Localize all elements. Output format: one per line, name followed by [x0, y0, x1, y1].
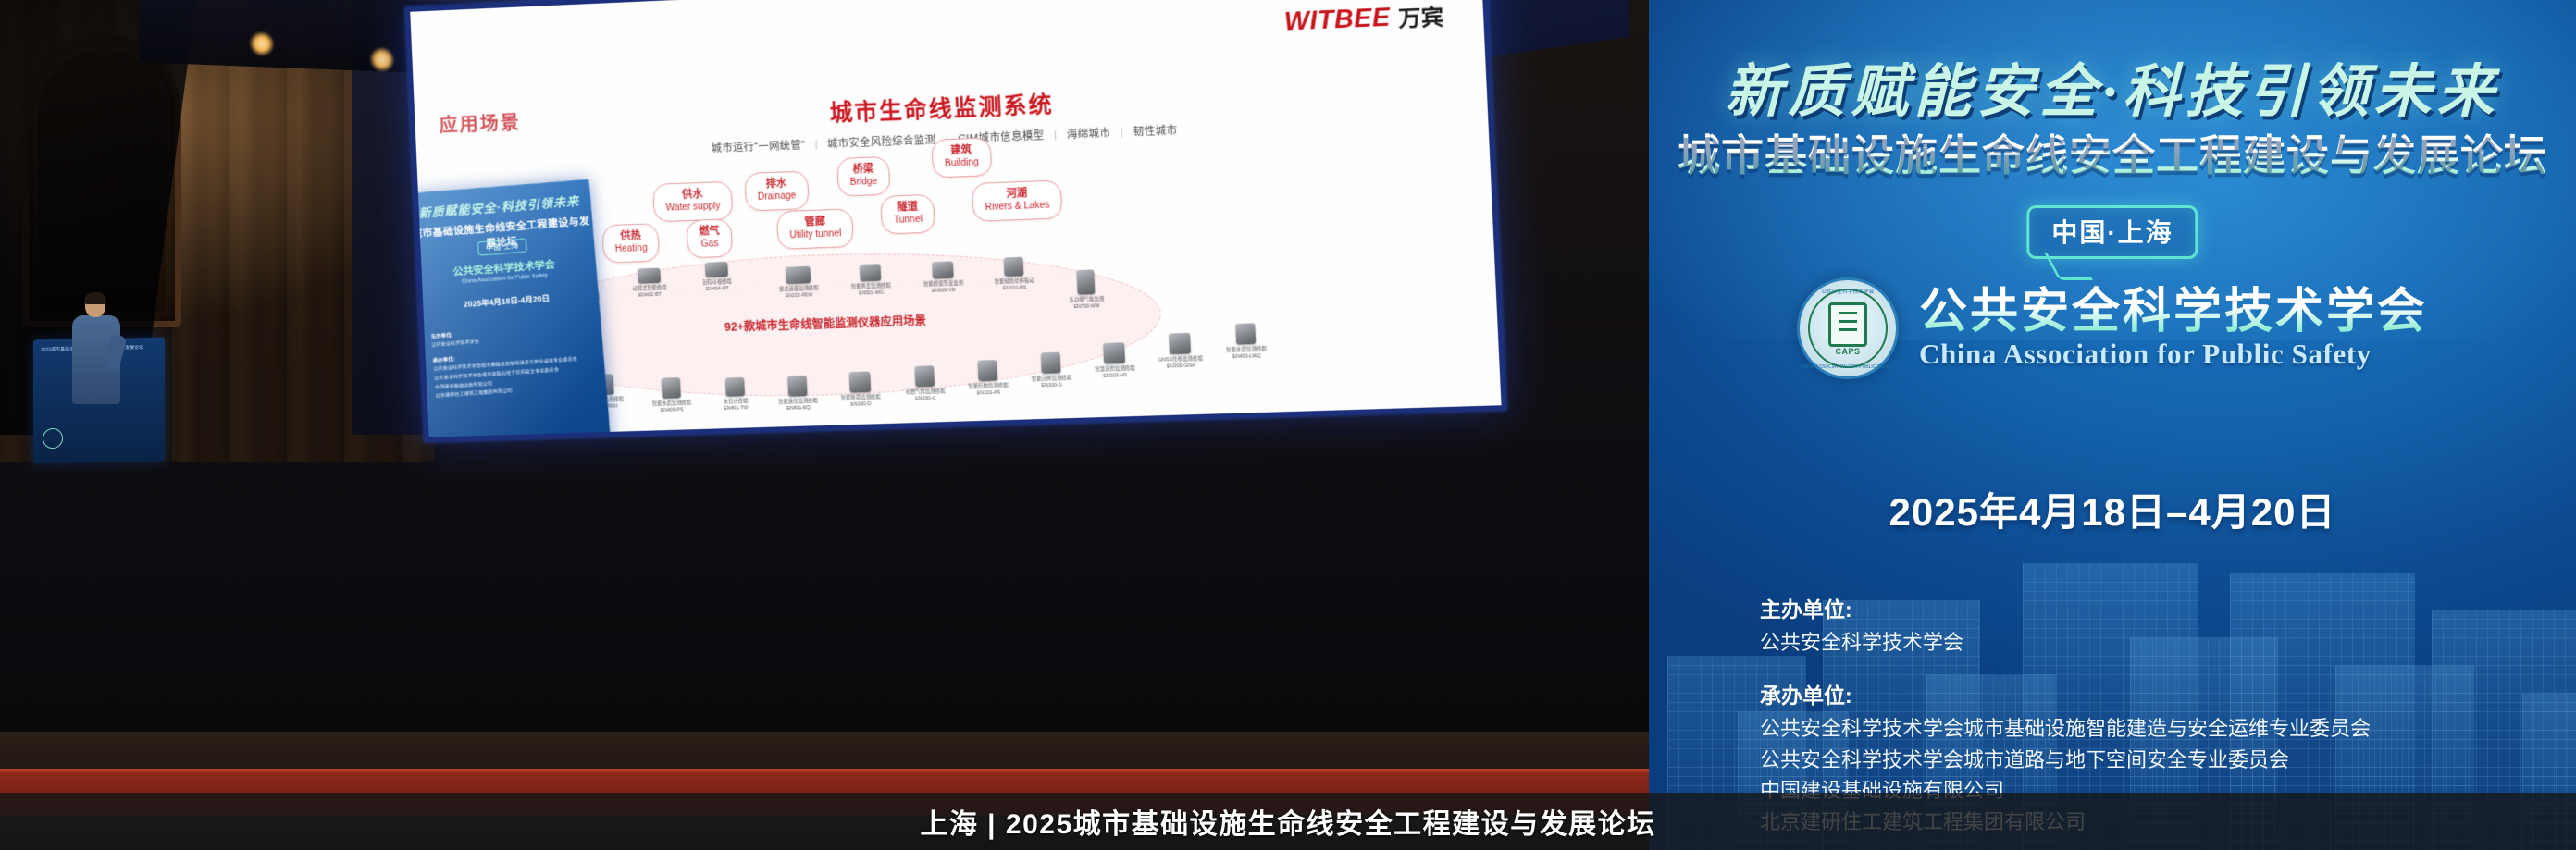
seal-arc-bottom: CHINA ASSOCIATION FOR PUBLIC SAFETY [1800, 364, 1896, 370]
scenario-label-en: Rivers & Lakes [985, 200, 1049, 214]
scenario-label-en: Drainage [758, 191, 797, 203]
seal-arc-top: 公共安全科学技术学会 [1800, 288, 1896, 295]
seal-caps-text: CAPS [1800, 347, 1896, 356]
scenario-label-en: Water supply [665, 201, 720, 215]
scenario-label-en: Utility tunnel [789, 228, 841, 242]
association-name-cn: 公共安全科学技术学会 [1919, 286, 2428, 338]
subtitle-divider: | [1054, 129, 1058, 141]
stage-light [370, 47, 394, 72]
subtitle-divider: | [1121, 127, 1124, 138]
scenario-pill: 排水Drainage [744, 170, 809, 211]
stage-light [250, 31, 274, 56]
association-name-block: 公共安全科学技术学会 China Association for Public … [1919, 286, 2428, 371]
device-icon [662, 377, 681, 399]
device-item: 可燃气体监测终端EN200-C [896, 365, 955, 403]
inset-banner-badge: 中国·上海 [477, 239, 527, 256]
carpet-edge [0, 769, 1649, 774]
device-icon [787, 376, 807, 397]
device-icon [977, 360, 997, 381]
inset-event-banner: 新质赋能安全·科技引领未来 城市基础设施生命线安全工程建设与发展论坛 中国·上海… [410, 179, 611, 437]
device-icon [638, 268, 661, 284]
banner-location-badge: 中国·上海 [2026, 205, 2198, 259]
scenario-label-en: Building [945, 157, 979, 170]
device-icon [786, 266, 811, 284]
host-name: 公共安全科学技术学会 [1760, 627, 2520, 658]
scenario-label-en: Heating [614, 243, 647, 256]
spacer [1760, 658, 2520, 678]
device-item: 智能桥梁形变监测EN600-VD [914, 261, 973, 295]
event-banner: 新质赋能安全·科技引领未来 城市基础设施生命线安全工程建设与发展论坛 中国·上海… [1649, 0, 2576, 850]
scenario-label-en: Bridge [849, 176, 877, 189]
scenario-pill: 建筑Building [931, 137, 992, 178]
scenario-pill: 供热Heating [601, 223, 660, 264]
device-item: 多功能气象监测EN700-MW [1057, 269, 1117, 311]
device-item: 水位计终端EN401-TW [706, 376, 764, 412]
organizer-label: 承办单位: [1760, 678, 2520, 709]
presenter [67, 294, 126, 414]
device-item: 智能水质监测终端EN400-LWQ [1216, 323, 1276, 361]
device-item: GNSS位移监测终端EN300-GNA [1150, 332, 1210, 370]
organizer-item: 公共安全科学技术学会城市道路与地下空间安全专业委员会 [1760, 745, 2520, 775]
device-icon [849, 372, 872, 393]
device-item: 雷达流量监测终端EN202-RDU [770, 265, 828, 300]
device-icon [932, 261, 954, 278]
device-item: 智能沉降监测终端EN100-G [1022, 351, 1081, 389]
device-icon [1041, 352, 1061, 374]
screen-frame: WITBEE 万宾 应用场景 城市生命线监测系统 城市运行“一网统管”|城市安全… [405, 0, 1506, 442]
presenter-hair [84, 292, 106, 304]
inset-banner-assoc: 公共安全科学技术学会 China Association for Public … [412, 253, 597, 289]
scenario-label-cn: 桥梁 [849, 164, 877, 178]
device-icon [1169, 333, 1191, 354]
scenario-label-cn: 建筑 [944, 144, 978, 158]
podium-logo [43, 428, 63, 449]
banner-forum-title: 城市基础设施生命线安全工程建设与发展论坛 [1649, 122, 2576, 183]
device-item: 近程可视终端EN404-RT [688, 261, 747, 292]
witbee-logo-cn: 万宾 [1397, 0, 1444, 33]
presentation-slide: WITBEE 万宾 应用场景 城市生命线监测系统 城市运行“一网统管”|城市安全… [410, 0, 1501, 437]
caption-text: 上海 | 2025城市基础设施生命线安全工程建设与发展论坛 [920, 801, 1655, 842]
device-item: 智能液位监测终端EN401-BQ [769, 375, 827, 412]
inset-banner-orgs: 主办单位: 公共安全科学技术学会 承办单位: 公共安全科学技术学会城市基础设施智… [430, 315, 598, 401]
device-item: 动臂式智能终端EN402-BT [621, 267, 678, 299]
device-item: 智能降雨监测终端EN200-D [831, 371, 889, 409]
banner-association: 公共安全科学技术学会 CAPS CHINA ASSOCIATION FOR PU… [1649, 277, 2576, 379]
scenario-pill: 供水Water supply [652, 181, 733, 223]
subtitle-part: 海绵城市 [1067, 128, 1111, 141]
scenario-pill: 管廊Utility tunnel [776, 208, 854, 250]
seal-emblem [1828, 302, 1867, 347]
association-name-en: China Association for Public Safety [1919, 338, 2428, 371]
scenario-label-en: Gas [700, 239, 721, 251]
scenario-pill: 桥梁Bridge [836, 156, 890, 197]
scenario-label-en: Tunnel [894, 214, 923, 227]
inset-banner-date: 2025年4月18日-4月20日 [415, 289, 599, 313]
device-item: 智能井盖监测终端EN501-MG [841, 264, 899, 298]
device-item: 智能倾角位移振动EN101-BS [985, 256, 1044, 292]
scenario-label-cn: 供热 [614, 230, 647, 244]
subtitle-part: 韧性城市 [1133, 125, 1178, 138]
subtitle-part: 城市运行“一网统管” [712, 140, 806, 154]
scenario-label-cn: 隧道 [893, 201, 923, 215]
scenario-label-cn: 燃气 [699, 226, 720, 240]
device-icon [1103, 342, 1125, 363]
device-item: 智能结构监测终端EN101-AS [959, 359, 1018, 397]
device-icon [860, 264, 881, 281]
organizer-item: 公共安全科学技术学会城市基础设施智能建造与安全运维专业委员会 [1760, 713, 2520, 744]
witbee-logo: WITBEE 万宾 [1283, 0, 1444, 38]
witbee-logo-en: WITBEE [1283, 2, 1391, 36]
device-icon [914, 365, 935, 387]
device-item: 智能水质监测终端EN409-PS [642, 376, 700, 413]
subtitle-part: 城市安全风险综合监测 [827, 135, 936, 151]
caption-bar: 上海 | 2025城市基础设施生命线安全工程建设与发展论坛 [0, 793, 2576, 850]
scenario-pill: 隧道Tunnel [880, 194, 935, 235]
banner-slogan: 新质赋能安全·科技引领未来 [1649, 44, 2576, 128]
device-icon [1235, 323, 1256, 344]
device-item: 智慧消防监测终端EN303-HS [1084, 342, 1145, 380]
device-icon [705, 262, 728, 277]
device-icon [725, 377, 745, 397]
scenario-pill: 河湖Rivers & Lakes [972, 179, 1063, 222]
host-label: 主办单位: [1760, 592, 2520, 623]
banner-date: 2025年4月18日–4月20日 [1649, 481, 2576, 537]
subtitle-divider: | [814, 140, 818, 151]
caps-seal-icon: 公共安全科学技术学会 CAPS CHINA ASSOCIATION FOR PU… [1797, 277, 1899, 379]
scenario-pill: 燃气Gas [686, 218, 733, 258]
device-icon [1076, 269, 1095, 294]
device-icon [1004, 257, 1024, 277]
projection-screen: WITBEE 万宾 应用场景 城市生命线监测系统 城市运行“一网统管”|城市安全… [405, 0, 1506, 442]
device-model: EN401-TW [708, 405, 764, 413]
